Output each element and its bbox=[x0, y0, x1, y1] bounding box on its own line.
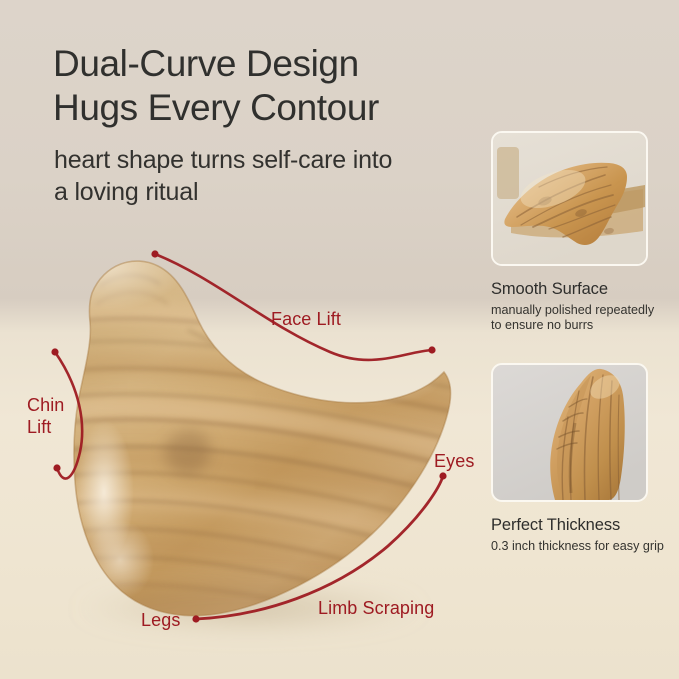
leader-dot-chin-lift-end bbox=[53, 464, 60, 471]
feature-card-smooth-surface: Smooth Surface manually polished repeate… bbox=[491, 131, 648, 333]
headline-line-2: Hugs Every Contour bbox=[53, 86, 473, 130]
feature-title-smooth-surface: Smooth Surface bbox=[491, 279, 648, 299]
feature-photo-smooth-surface bbox=[491, 131, 648, 266]
annotation-label-face-lift: Face Lift bbox=[271, 308, 341, 330]
annotation-label-chin-lift: Chin Lift bbox=[27, 394, 64, 438]
feature-desc-perfect-thickness: 0.3 inch thickness for easy grip bbox=[491, 539, 667, 554]
leader-dot-face-lift-start bbox=[151, 250, 158, 257]
headline-line-1: Dual-Curve Design bbox=[53, 42, 473, 86]
leader-dot-legs bbox=[192, 615, 199, 622]
annotation-label-chin-lift-line2: Lift bbox=[27, 416, 64, 438]
feature-photo-perfect-thickness bbox=[491, 363, 648, 502]
annotation-label-limb-scraping: Limb Scraping bbox=[318, 597, 434, 619]
perfect-thickness-illustration bbox=[493, 365, 646, 500]
feature-desc-smooth-surface: manually polished repeatedly to ensure n… bbox=[491, 303, 667, 333]
smooth-surface-illustration bbox=[493, 133, 646, 264]
annotation-label-eyes: Eyes bbox=[434, 450, 474, 472]
feature-title-perfect-thickness: Perfect Thickness bbox=[491, 515, 648, 535]
leader-dot-face-lift-end bbox=[428, 346, 435, 353]
product-infographic: Face Lift Chin Lift Eyes Legs Limb Scrap… bbox=[0, 0, 679, 679]
feature-card-perfect-thickness: Perfect Thickness 0.3 inch thickness for… bbox=[491, 363, 648, 554]
annotation-label-chin-lift-line1: Chin bbox=[27, 394, 64, 416]
leader-dot-chin-lift-start bbox=[51, 348, 58, 355]
page-title: Dual-Curve Design Hugs Every Contour bbox=[53, 42, 473, 130]
subheading-line-2: a loving ritual bbox=[54, 176, 474, 208]
page-subtitle: heart shape turns self-care into a lovin… bbox=[54, 144, 474, 208]
subheading-line-1: heart shape turns self-care into bbox=[54, 144, 474, 176]
annotation-label-legs: Legs bbox=[141, 609, 180, 631]
leader-dot-eyes bbox=[439, 472, 446, 479]
